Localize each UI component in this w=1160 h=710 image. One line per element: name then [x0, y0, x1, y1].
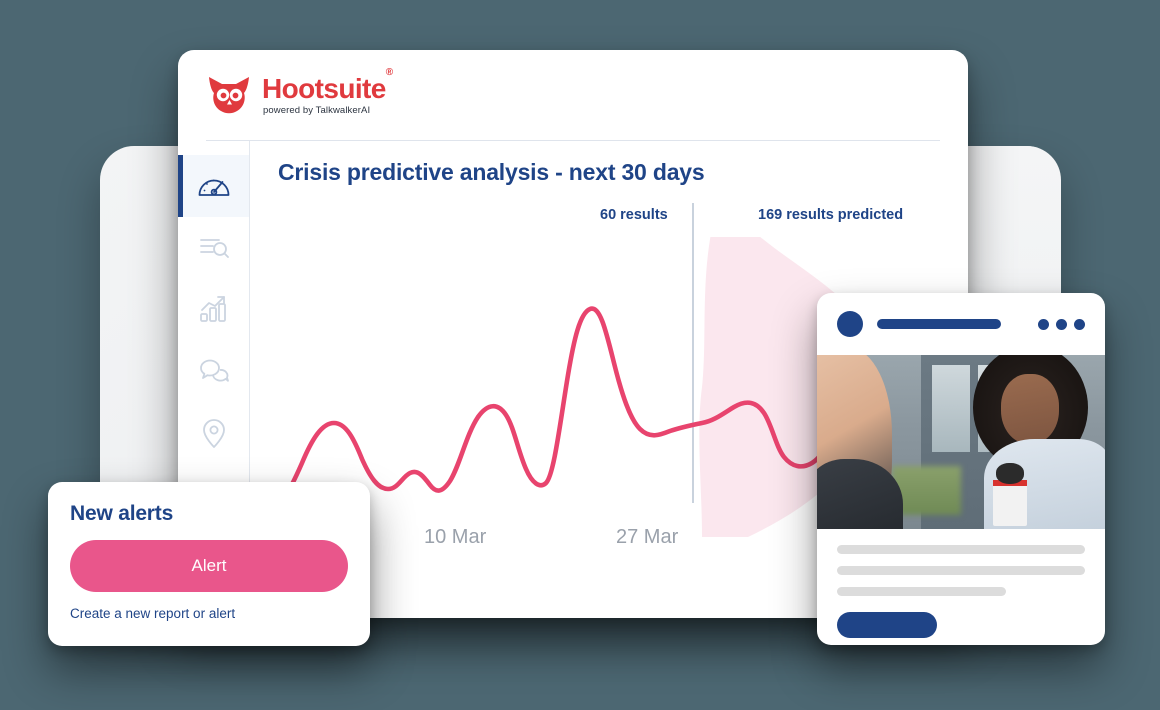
photo-window-pane-left — [932, 365, 969, 452]
registered-mark: ® — [386, 67, 393, 78]
post-cta-button[interactable] — [837, 612, 937, 638]
photo-reporter-face — [1001, 374, 1059, 444]
text-placeholder-line — [837, 566, 1085, 575]
brand-name: Hootsuite® — [262, 75, 393, 103]
location-pin-icon — [199, 418, 229, 450]
social-post-card — [817, 293, 1105, 645]
sidebar-item-dashboard[interactable] — [178, 155, 249, 217]
page-title: Crisis predictive analysis - next 30 day… — [278, 159, 968, 186]
owl-icon — [206, 75, 252, 115]
screenshot-stage: Hootsuite® powered by TalkwalkerAI — [0, 0, 1160, 710]
sidebar-item-analytics[interactable] — [178, 279, 249, 341]
new-alerts-card: New alerts Alert Create a new report or … — [48, 482, 370, 646]
sidebar-item-messages[interactable] — [178, 341, 249, 403]
text-placeholder-line — [837, 545, 1085, 554]
chart-stats: 60 results 169 results predicted — [250, 207, 968, 231]
dot-2 — [1056, 319, 1067, 330]
stat-actual-results: 60 results — [600, 207, 668, 223]
bar-chart-icon — [198, 295, 230, 325]
social-post-body — [817, 529, 1105, 642]
x-axis-tick-2: 27 Mar — [616, 526, 678, 549]
brand-tagline: powered by TalkwalkerAI — [263, 106, 393, 116]
search-list-icon — [198, 233, 230, 263]
post-image — [817, 355, 1105, 529]
chat-icon — [198, 357, 230, 387]
photo-microphone-body — [993, 480, 1028, 525]
dashboard-header: Hootsuite® powered by TalkwalkerAI — [178, 50, 968, 140]
author-name-placeholder — [877, 319, 1001, 329]
gauge-icon — [197, 171, 231, 201]
social-post-header — [817, 293, 1105, 355]
dot-3 — [1074, 319, 1085, 330]
sidebar-item-locations[interactable] — [178, 403, 249, 465]
x-axis-tick-1: 10 Mar — [424, 526, 486, 549]
create-report-or-alert-link[interactable]: Create a new report or alert — [70, 606, 348, 621]
sidebar-item-search[interactable] — [178, 217, 249, 279]
more-dots-icon[interactable] — [1038, 319, 1085, 330]
dot-1 — [1038, 319, 1049, 330]
alerts-card-title: New alerts — [70, 502, 348, 526]
avatar[interactable] — [837, 311, 863, 337]
stat-predicted-results: 169 results predicted — [758, 207, 903, 223]
alert-button[interactable]: Alert — [70, 540, 348, 592]
hootsuite-logo[interactable]: Hootsuite® powered by TalkwalkerAI — [206, 75, 393, 116]
photo-microphone-head — [996, 463, 1025, 484]
text-placeholder-line — [837, 587, 1006, 596]
